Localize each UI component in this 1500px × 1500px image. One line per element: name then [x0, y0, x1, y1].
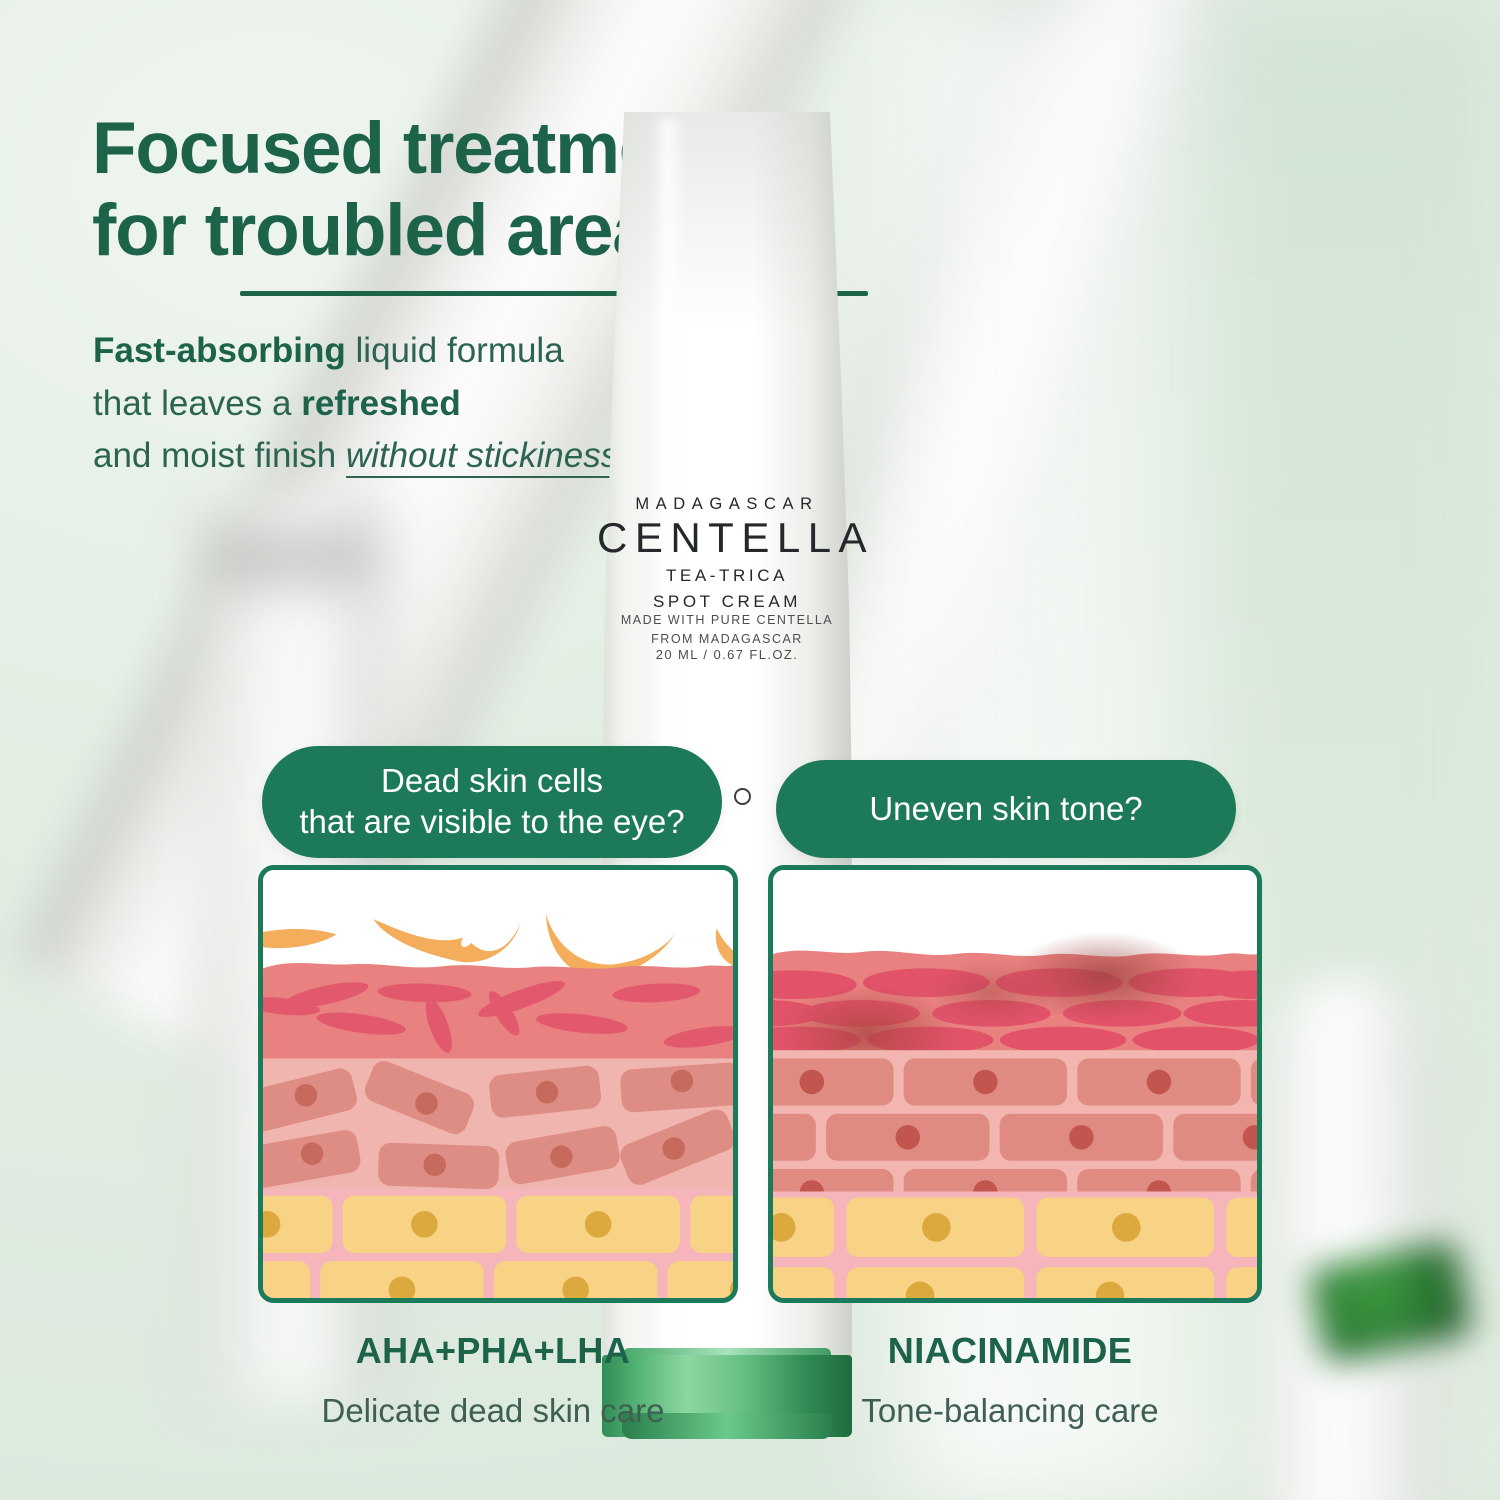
tube-label-brand-top: MADAGASCAR — [597, 495, 857, 514]
caption-right: NIACINAMIDE Tone-balancing care — [768, 1330, 1252, 1430]
blurred-right-bottle-icon — [1255, 980, 1445, 1500]
subtitle-text-3: and moist finish — [93, 436, 346, 475]
rough-skin-cross-section-icon — [263, 870, 733, 1298]
skin-diagram-card-left — [258, 865, 738, 1303]
subtitle-text-1: liquid formula — [346, 331, 564, 370]
subtitle-bold-fast-absorbing: Fast-absorbing — [93, 331, 346, 370]
tube-circle-mark-2-icon — [734, 788, 751, 805]
tube-label-claim-line-1: MADE WITH PURE CENTELLA — [597, 611, 857, 630]
skin-diagram-card-right — [768, 865, 1262, 1303]
tube-label-brand-main: CENTELLA — [597, 514, 857, 562]
tube-shoulder-shading — [607, 112, 846, 372]
tube-label-product-name: TEA-TRICA SPOT CREAM — [597, 563, 857, 616]
question-pill-uneven-tone-text: Uneven skin tone? — [869, 789, 1142, 830]
infographic-canvas: Focused treatment for troubled areas Fas… — [0, 0, 1500, 1500]
tube-label-claim-line-2: FROM MADAGASCAR — [597, 630, 857, 649]
benefit-label-tone-balancing-care: Tone-balancing care — [768, 1392, 1252, 1430]
question-pill-dead-skin-text: Dead skin cells that are visible to the … — [299, 761, 684, 843]
subtitle-text-2: that leaves a — [93, 384, 301, 423]
tube-label-claim: MADE WITH PURE CENTELLA FROM MADAGASCAR — [597, 611, 857, 649]
question-pill-uneven-tone: Uneven skin tone? — [776, 760, 1236, 858]
subtitle-italic-without-stickiness: without stickiness. — [346, 436, 628, 478]
ingredient-label-aha-pha-lha: AHA+PHA+LHA — [258, 1330, 728, 1372]
blurred-left-tube-cap-icon — [210, 528, 370, 588]
caption-left: AHA+PHA+LHA Delicate dead skin care — [258, 1330, 728, 1430]
question-pill-dead-skin: Dead skin cells that are visible to the … — [262, 746, 722, 858]
pigmented-skin-cross-section-icon — [773, 870, 1257, 1298]
benefit-label-delicate-dead-skin-care: Delicate dead skin care — [258, 1392, 728, 1430]
question-pill-dead-skin-line-2: that are visible to the eye? — [299, 803, 684, 840]
ingredient-label-niacinamide: NIACINAMIDE — [768, 1330, 1252, 1372]
tube-label-product-name-line-1: TEA-TRICA — [597, 563, 857, 589]
question-pill-dead-skin-line-1: Dead skin cells — [381, 762, 603, 799]
subtitle-bold-refreshed: refreshed — [301, 384, 461, 423]
tube-label-volume: 20 ML / 0.67 FL.OZ. — [597, 647, 857, 662]
